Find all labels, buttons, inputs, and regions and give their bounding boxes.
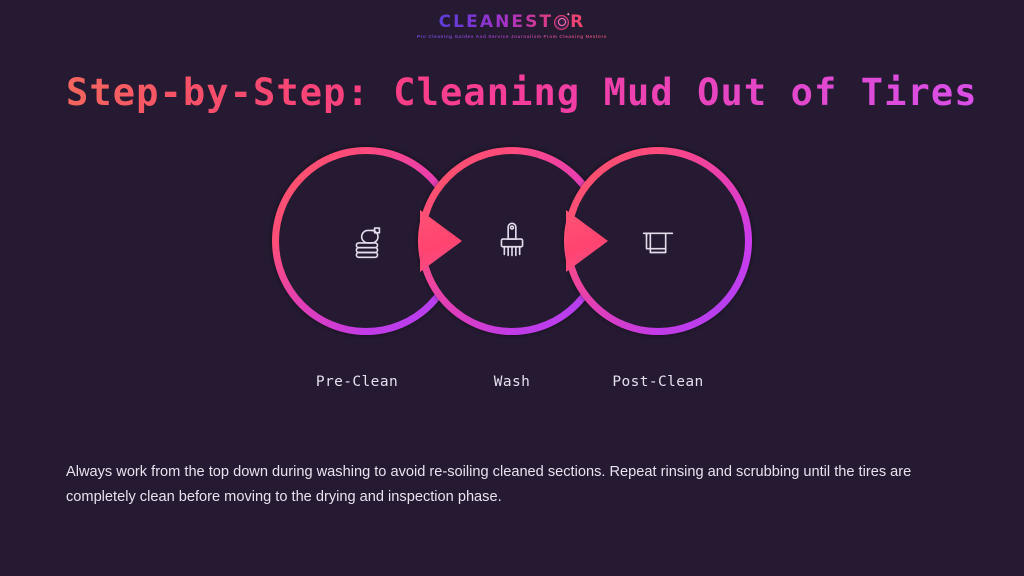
brand-logo-text-part2: R: [570, 13, 585, 31]
brand-tagline: Pro Cleaning Guides And Service Journali…: [417, 34, 607, 39]
sparkle-icon: ✦: [566, 13, 570, 17]
step-labels: Pre-Clean Wash Post-Clean: [272, 374, 752, 396]
page-title: Step-by-Step: Cleaning Mud Out of Tires: [66, 70, 978, 116]
brand-logo-text-part1: CLEANEST: [439, 13, 554, 31]
slide-root: CLEANEST ✦ R Pro Cleaning Guides And Ser…: [0, 0, 1024, 576]
brand-logo-washer-icon: ✦: [554, 15, 569, 30]
brand-header: CLEANEST ✦ R Pro Cleaning Guides And Ser…: [0, 13, 1024, 39]
step-label-post-clean: Post-Clean: [564, 374, 752, 390]
brand-logo-wordmark: CLEANEST ✦ R: [439, 13, 586, 31]
process-flow-diagram: [272, 147, 752, 335]
towel-rack-icon: [564, 147, 752, 335]
body-paragraph: Always work from the top down during was…: [66, 460, 956, 510]
